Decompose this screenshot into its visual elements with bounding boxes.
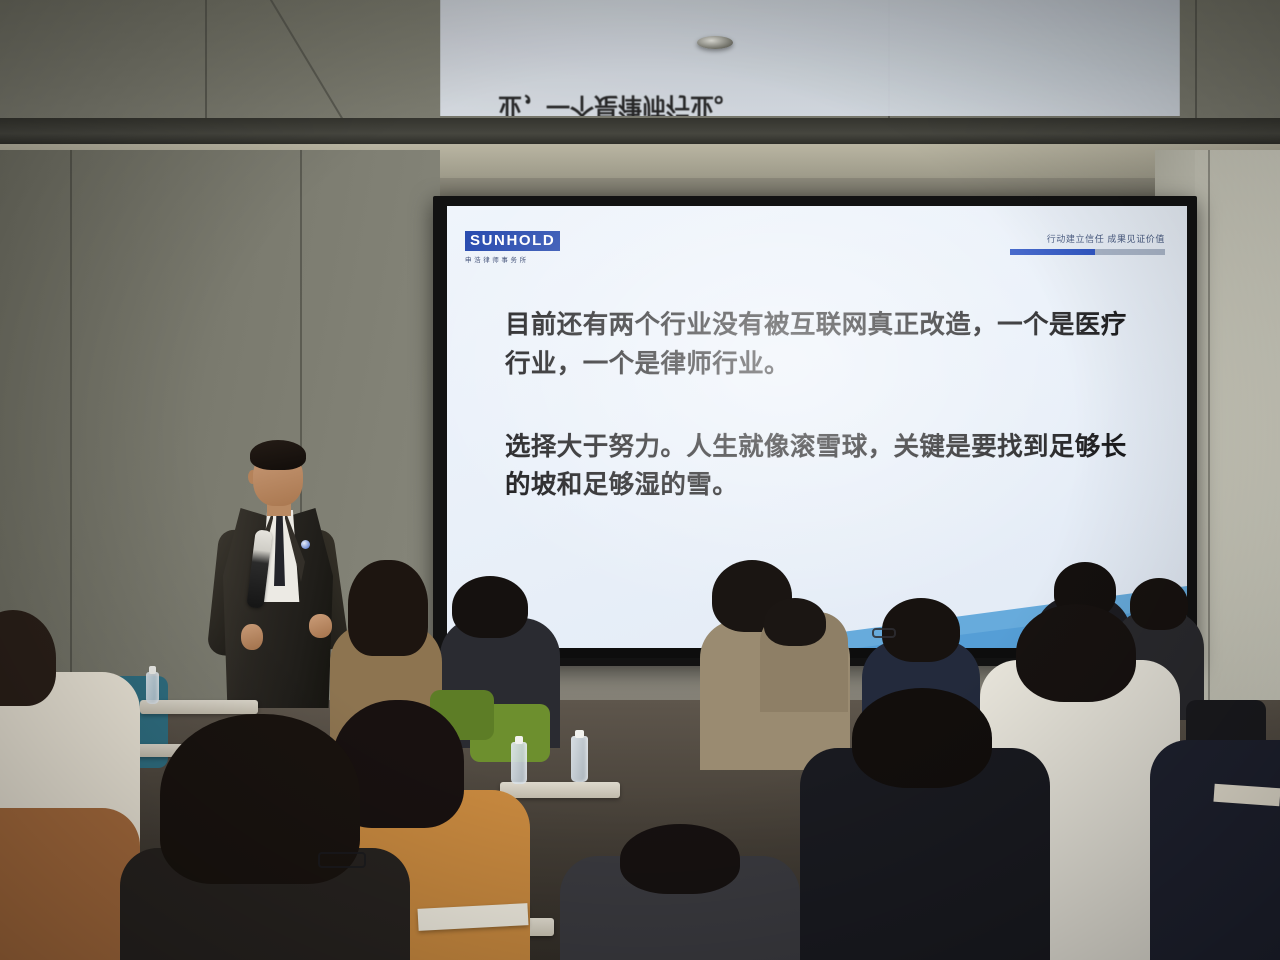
attendee-hair bbox=[852, 688, 992, 788]
eyeglasses-icon bbox=[872, 628, 896, 638]
water-bottle bbox=[146, 672, 159, 704]
slide-tagline-block: 行动建立信任 成果见证价值 bbox=[1010, 232, 1165, 255]
reflection-slide-text: 目前还有两个行业没有被互联网真正改造，一个是医疗行业，一个是律师行业。 bbox=[498, 88, 1128, 116]
slide-tagline-text: 行动建立信任 成果见证价值 bbox=[1010, 232, 1165, 245]
lapel-pin-icon bbox=[301, 540, 310, 549]
attendee-hair bbox=[620, 824, 740, 894]
progress-fill bbox=[1010, 249, 1095, 255]
presentation-photo-scene: SUNHOLD 申浩律师事务所 行动建立信任 成果见证价值 目前还有两个行业没有… bbox=[0, 0, 1280, 960]
recessed-ceiling-light-icon bbox=[697, 36, 733, 49]
ceiling-slide-reflection: SUNHOLD 申浩律师事务所 行动建立信任 成果见证价值 目前还有两个行业没有… bbox=[440, 0, 1180, 116]
presenter-hand-right bbox=[309, 614, 332, 638]
list-item bbox=[1150, 740, 1280, 960]
attendee-hair bbox=[764, 598, 826, 646]
wall-seam bbox=[1208, 150, 1210, 710]
attendee-hair bbox=[1130, 578, 1188, 630]
water-bottle bbox=[571, 736, 588, 782]
attendee-hair bbox=[452, 576, 528, 638]
list-item bbox=[0, 808, 140, 960]
presenter-hair bbox=[250, 440, 306, 470]
wall-seam bbox=[70, 150, 72, 710]
attendee-hair bbox=[1016, 604, 1136, 702]
sunhold-logo: SUNHOLD 申浩律师事务所 bbox=[465, 231, 560, 264]
presenter-hand-left bbox=[241, 624, 263, 650]
logo-wordmark: SUNHOLD bbox=[465, 231, 560, 251]
tablet-desk bbox=[500, 782, 620, 798]
ceiling-seam bbox=[1195, 0, 1197, 118]
slide-paragraph-2: 选择大于努力。人生就像滚雪球，关键是要找到足够长的坡和足够湿的雪。 bbox=[505, 428, 1135, 506]
attendee-hair bbox=[348, 560, 428, 656]
slide-paragraph-1: 目前还有两个行业没有被互联网真正改造，一个是医疗行业，一个是律师行业。 bbox=[505, 306, 1135, 384]
ceiling-beam-dark bbox=[0, 118, 1280, 144]
slide-tagline-progress-bar bbox=[1010, 249, 1165, 255]
slide-body: 目前还有两个行业没有被互联网真正改造，一个是医疗行业，一个是律师行业。 选择大于… bbox=[505, 306, 1135, 505]
presenter bbox=[205, 438, 350, 738]
eyeglasses-icon bbox=[318, 852, 366, 868]
ceiling-seam bbox=[205, 0, 207, 118]
water-bottle bbox=[511, 742, 527, 784]
logo-subtext: 申浩律师事务所 bbox=[465, 254, 560, 264]
